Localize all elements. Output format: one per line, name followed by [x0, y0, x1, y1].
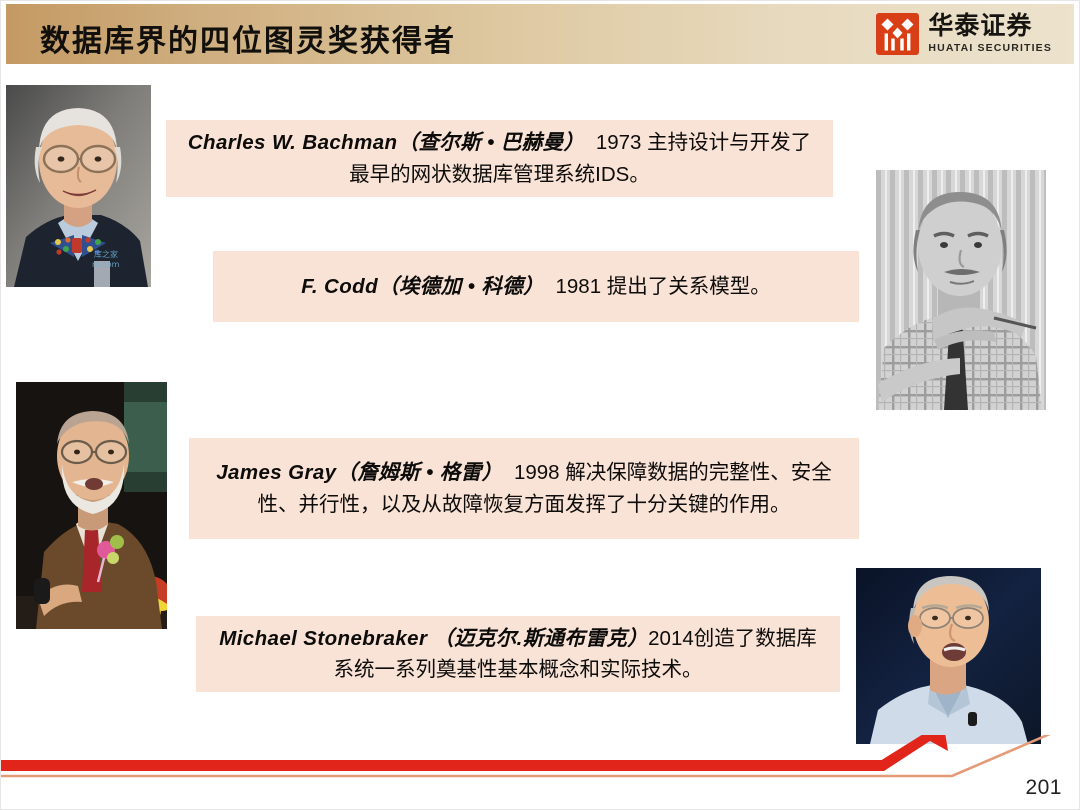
svg-text:m.com: m.com: [92, 260, 120, 269]
portrait-photo-stonebraker: [856, 568, 1041, 744]
laureate-name-cn-codd: （埃德加 • 科德）: [378, 275, 544, 298]
portrait-photo-bachman: 库之家 m.com: [6, 85, 151, 287]
laureate-name-cn-gray: （詹姆斯 • 格雷）: [336, 461, 502, 484]
brand-name-block: 华泰证券 HUATAI SECURITIES: [928, 14, 1052, 54]
portrait-photo-codd: [876, 170, 1046, 410]
svg-text:库之家: 库之家: [94, 249, 118, 259]
laureate-name-bachman: Charles W. Bachman: [188, 131, 398, 154]
laureate-year-codd: 1981: [555, 275, 601, 298]
callout-codd: F. Codd（埃德加 • 科德） 1981 提出了关系模型。: [213, 251, 859, 322]
callout-stonebraker-text: Michael Stonebraker （迈克尔.斯通布雷克）2014创造了数据…: [210, 623, 826, 685]
page-number: 201: [1025, 776, 1062, 800]
callout-codd-text: F. Codd（埃德加 • 科德） 1981 提出了关系模型。: [301, 271, 771, 302]
laureate-name-cn-bachman: （查尔斯 • 巴赫曼）: [397, 131, 584, 154]
brand-name-cn: 华泰证券: [928, 14, 1052, 39]
huatai-logo-icon: [876, 13, 919, 55]
laureate-name-cn-stonebraker: （迈克尔.斯通布雷克）: [433, 627, 648, 650]
brand-name-en: HUATAI SECURITIES: [928, 43, 1052, 54]
page-title: 数据库界的四位图灵奖获得者: [40, 16, 456, 60]
laureate-year-bachman: 1973: [596, 131, 642, 154]
laureate-name-codd: F. Codd: [301, 275, 378, 298]
callout-bachman-text: Charles W. Bachman（查尔斯 • 巴赫曼） 1973 主持设计与…: [180, 127, 819, 189]
laureate-name-gray: James Gray: [216, 461, 336, 484]
laureate-year-stonebraker: 2014: [648, 627, 694, 650]
callout-stonebraker: Michael Stonebraker （迈克尔.斯通布雷克）2014创造了数据…: [196, 616, 840, 692]
laureate-year-gray: 1998: [514, 461, 560, 484]
callout-gray-text: James Gray（詹姆斯 • 格雷） 1998 解决保障数据的完整性、安全性…: [203, 457, 845, 519]
portrait-photo-gray: [16, 382, 167, 629]
slide-canvas: 数据库界的四位图灵奖获得者 华泰证券 HUATAI SECURITIES: [0, 0, 1080, 810]
callout-gray: James Gray（詹姆斯 • 格雷） 1998 解决保障数据的完整性、安全性…: [189, 438, 859, 539]
slide-header: 数据库界的四位图灵奖获得者 华泰证券 HUATAI SECURITIES: [6, 4, 1074, 64]
footer-decoration: 201: [0, 735, 1080, 810]
callout-bachman: Charles W. Bachman（查尔斯 • 巴赫曼） 1973 主持设计与…: [166, 120, 833, 197]
brand-logo: 华泰证券 HUATAI SECURITIES: [876, 13, 1052, 55]
laureate-desc-codd: 提出了关系模型。: [607, 275, 771, 298]
laureate-name-stonebraker: Michael Stonebraker: [219, 627, 427, 650]
